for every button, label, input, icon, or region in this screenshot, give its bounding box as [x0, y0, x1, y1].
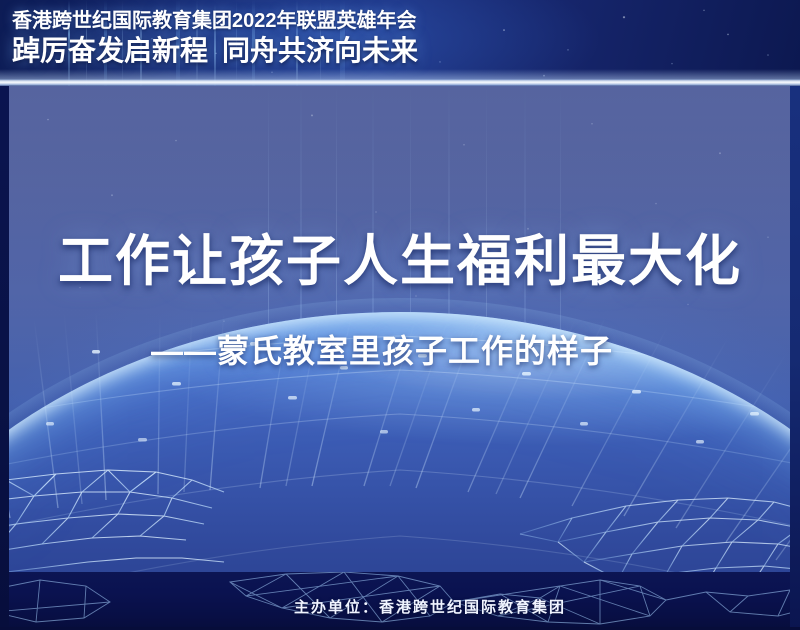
- frame-right-border: [790, 86, 800, 630]
- header-slogan-left: 踔厉奋发启新程: [12, 35, 208, 66]
- page-title: 工作让孩子人生福利最大化: [0, 228, 800, 294]
- header-banner: 香港跨世纪国际教育集团2022年联盟英雄年会 踔厉奋发启新程同舟共济向未来: [0, 0, 800, 86]
- header-event-name: 香港跨世纪国际教育集团2022年联盟英雄年会: [12, 8, 418, 34]
- organizer-credit: 主办单位：香港跨世纪国际教育集团: [0, 596, 800, 617]
- header-divider-glow: [0, 69, 800, 79]
- header-title-group: 香港跨世纪国际教育集团2022年联盟英雄年会 踔厉奋发启新程同舟共济向未来: [12, 8, 418, 68]
- header-slogan: 踔厉奋发启新程同舟共济向未来: [12, 34, 418, 68]
- header-slogan-right: 同舟共济向未来: [222, 35, 418, 66]
- header-light-divider: [0, 79, 800, 86]
- presentation-slide: 香港跨世纪国际教育集团2022年联盟英雄年会 踔厉奋发启新程同舟共济向未来: [0, 0, 800, 630]
- page-subtitle: ——蒙氏教室里孩子工作的样子: [0, 330, 800, 372]
- frame-left-border: [0, 86, 9, 630]
